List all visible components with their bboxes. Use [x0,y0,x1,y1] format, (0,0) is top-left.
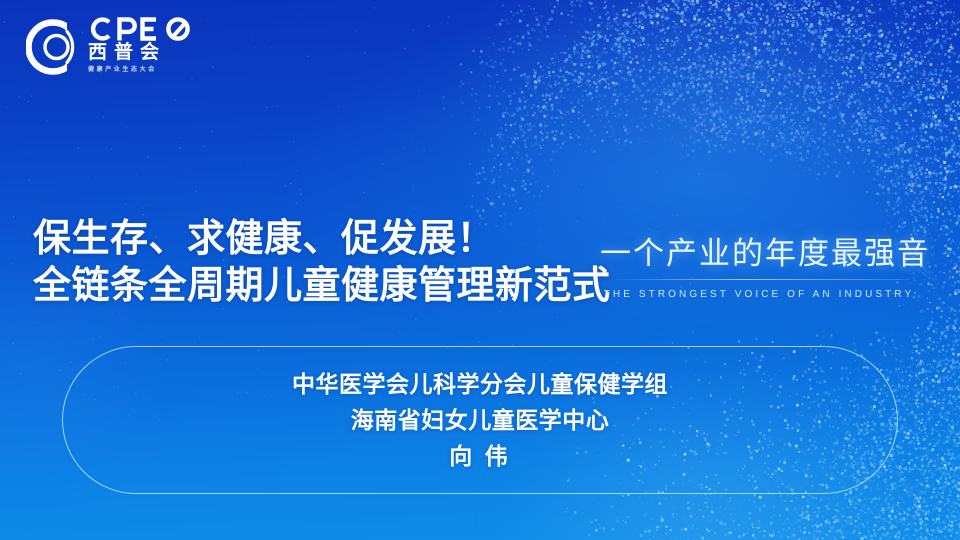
presentation-slide: 西普会 健康产业生态大会 保生存、求健康、促发展！ 全链条全周期儿童健康管理新范… [0,0,960,540]
cpeo-logo: 西普会 健康产业生态大会 [26,16,206,80]
speaker-name: 向 伟 [449,438,510,474]
logo-tagline: 健康产业生态大会 [88,66,206,74]
cpeo-ring-mark-icon [26,19,82,75]
slogan-divider [609,279,909,280]
cpeo-wordmark-icon [88,16,206,42]
page-title: 保生存、求健康、促发展！ 全链条全周期儿童健康管理新范式 [33,216,653,310]
logo-chinese-name: 西普会 [88,43,206,63]
cpeo-wordmark-group: 西普会 健康产业生态大会 [88,16,206,74]
affiliation-organization: 中华医学会儿科学分会儿童保健学组 [292,366,668,402]
title-line-2: 全链条全周期儿童健康管理新范式 [33,263,653,310]
slogan-english: THE STRONGEST VOICE OF AN INDUSTRY [600,288,918,301]
title-line-1: 保生存、求健康、促发展！ [33,216,653,263]
affiliation-panel: 中华医学会儿科学分会儿童保健学组 海南省妇女儿童医学中心 向 伟 [62,346,898,494]
affiliation-institution: 海南省妇女儿童医学中心 [351,402,610,438]
slogan-chinese: 一个产业的年度最强音 [600,234,918,274]
conference-slogan: 一个产业的年度最强音 THE STRONGEST VOICE OF AN IND… [600,234,918,301]
